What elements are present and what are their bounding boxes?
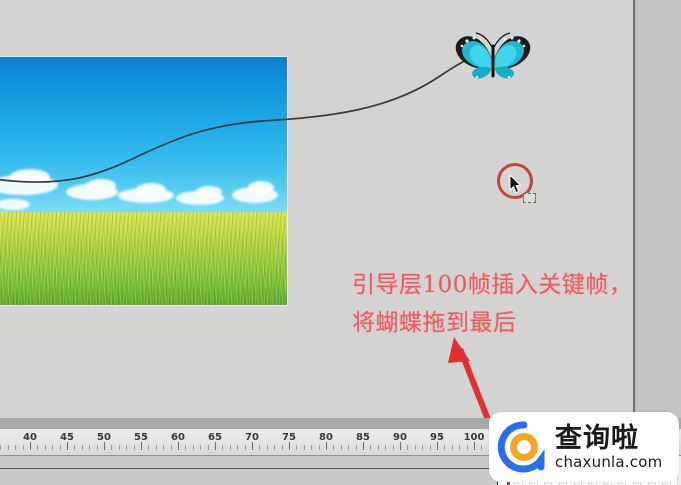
ruler-tick [348, 445, 349, 450]
ruler-tick [30, 442, 31, 450]
ruler-tick [193, 445, 194, 450]
ruler-tick [178, 442, 179, 450]
ruler-tick [252, 442, 253, 450]
ruler-label: 70 [245, 432, 259, 443]
ruler-tick [407, 445, 408, 450]
ruler-tick [208, 445, 209, 450]
ruler-tick [274, 445, 275, 450]
photo-field-region [0, 212, 287, 305]
ruler-tick [15, 445, 16, 450]
cloud-shape [86, 179, 116, 193]
ruler-tick [452, 445, 453, 450]
watermark: 查询啦 chaxunla.com [489, 412, 679, 482]
ruler-tick [304, 445, 305, 450]
watermark-domain: chaxunla.com [555, 454, 662, 471]
ruler-label: 55 [134, 432, 148, 443]
ruler-tick [311, 445, 312, 450]
cloud-shape [136, 183, 166, 196]
ruler-tick [289, 442, 290, 450]
ruler-tick [119, 445, 120, 450]
ruler-tick [104, 442, 105, 450]
ruler-label: 90 [393, 432, 407, 443]
ruler-tick [459, 445, 460, 450]
ruler-tick [141, 442, 142, 450]
ruler-tick [267, 445, 268, 450]
butterfly-symbol[interactable] [451, 28, 535, 88]
ruler-tick [37, 445, 38, 450]
ruler-label: 95 [430, 432, 444, 443]
ruler-tick [415, 445, 416, 450]
ruler-tick [156, 445, 157, 450]
ruler-tick [230, 445, 231, 450]
ruler-tick [385, 445, 386, 450]
ruler-tick [259, 445, 260, 450]
screenshot-stage: 引导层100帧插入关键帧， 将蝴蝶拖到最后 404550556065707580… [0, 0, 681, 485]
right-panel [636, 0, 681, 418]
ruler-tick [148, 445, 149, 450]
ruler-tick [370, 445, 371, 450]
annotation-line-2: 将蝴蝶拖到最后 [352, 304, 632, 342]
panel-divider-highlight [635, 0, 636, 418]
ruler-tick [0, 445, 1, 450]
ruler-tick [185, 445, 186, 450]
sky-and-wheat-field-photo[interactable] [0, 57, 287, 305]
ruler-tick [356, 445, 357, 450]
ruler-tick [82, 445, 83, 450]
ruler-tick [126, 445, 127, 450]
ruler-tick [481, 445, 482, 450]
watermark-title: 查询啦 [555, 424, 662, 454]
ruler-tick [333, 445, 334, 450]
ruler-label: 85 [356, 432, 370, 443]
annotation-line-1: 引导层100帧插入关键帧， [352, 266, 632, 304]
ruler-tick [74, 445, 75, 450]
ruler-tick [237, 445, 238, 450]
ruler-tick [341, 445, 342, 450]
ruler-tick [245, 445, 246, 450]
drag-target-icon [523, 193, 536, 203]
mouse-pointer-icon [509, 174, 522, 194]
cloud-shape [196, 186, 222, 198]
ruler-tick [430, 445, 431, 450]
ruler-tick [437, 442, 438, 450]
ruler-tick [474, 442, 475, 450]
ruler-tick [215, 442, 216, 450]
ruler-tick [378, 445, 379, 450]
ruler-tick [400, 442, 401, 450]
ruler-tick [363, 442, 364, 450]
ruler-tick [134, 445, 135, 450]
ruler-tick [222, 445, 223, 450]
ruler-tick [422, 445, 423, 450]
ruler-label: 80 [319, 432, 333, 443]
ruler-tick [52, 445, 53, 450]
ruler-tick [296, 445, 297, 450]
ruler-label: 50 [97, 432, 111, 443]
ruler-label: 75 [282, 432, 296, 443]
ruler-label: 40 [23, 432, 37, 443]
cloud-shape [10, 169, 50, 185]
ruler-label: 45 [60, 432, 74, 443]
ruler-tick [45, 445, 46, 450]
ruler-tick [60, 445, 61, 450]
ruler-tick [89, 445, 90, 450]
ruler-tick [393, 445, 394, 450]
ruler-tick [467, 445, 468, 450]
ruler-label: 60 [171, 432, 185, 443]
ruler-tick [111, 445, 112, 450]
ruler-tick [326, 442, 327, 450]
ruler-label: 100 [464, 432, 485, 443]
ruler-tick [282, 445, 283, 450]
annotation-text: 引导层100帧插入关键帧， 将蝴蝶拖到最后 [352, 266, 632, 342]
ruler-tick [67, 442, 68, 450]
ruler-label: 65 [208, 432, 222, 443]
search-magnifier-logo-icon [497, 420, 551, 474]
cloud-shape [248, 181, 274, 194]
ruler-tick [23, 445, 24, 450]
ruler-tick [319, 445, 320, 450]
ruler-tick [200, 445, 201, 450]
ruler-tick [444, 445, 445, 450]
ruler-tick [97, 445, 98, 450]
ruler-tick [171, 445, 172, 450]
ruler-tick [8, 445, 9, 450]
ruler-tick [163, 445, 164, 450]
watermark-text: 查询啦 chaxunla.com [555, 424, 662, 471]
